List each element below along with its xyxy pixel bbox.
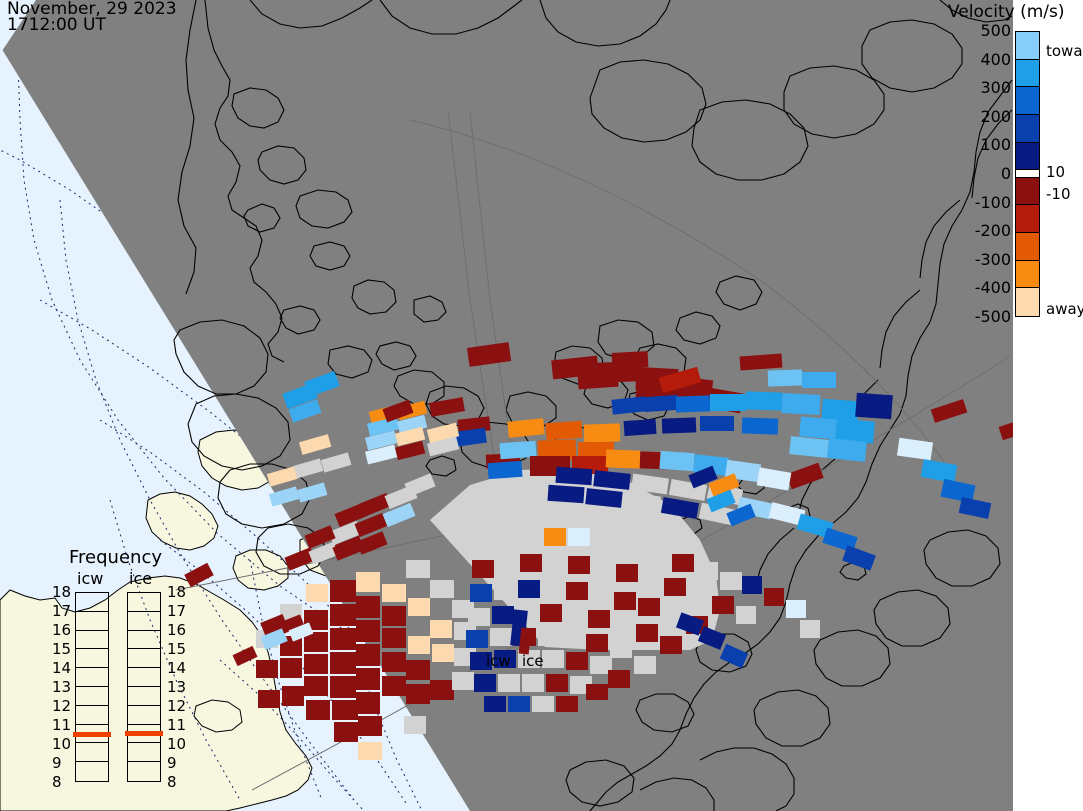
freq-segment (128, 706, 160, 725)
colorbar-tick-500: 500 (951, 21, 1011, 40)
colorbar-swatch-1 (1016, 60, 1039, 88)
colorbar-tick--500: -500 (951, 307, 1011, 326)
freq-segment (128, 631, 160, 650)
colorbar-swatch-8 (1016, 233, 1039, 261)
colorbar-tick--200: -200 (951, 221, 1011, 240)
colorbar-tick--300: -300 (951, 250, 1011, 269)
freq-tick-12: 12 (167, 697, 186, 715)
freq-marker-ice (125, 731, 163, 736)
time-text: 1712:00 UT (7, 17, 177, 33)
freq-scale-ice (127, 592, 161, 782)
colorbar-toward-label: toward (1046, 42, 1083, 60)
colorbar-swatch-9 (1016, 261, 1039, 289)
freq-segment (76, 668, 108, 687)
frequency-legend: Frequency icw ice 18171615141312111098 1… (55, 545, 195, 790)
frequency-legend-title: Frequency (69, 547, 162, 568)
freq-segment (128, 687, 160, 706)
freq-tick-9: 9 (167, 754, 177, 772)
freq-scale-icw (75, 592, 109, 782)
colorbar-swatch-7 (1016, 205, 1039, 233)
colorbar-swatch-3 (1016, 115, 1039, 143)
colorbar-tick--400: -400 (951, 278, 1011, 297)
freq-tick-15: 15 (52, 640, 71, 658)
freq-tick-17: 17 (52, 602, 71, 620)
colorbar-swatch-4 (1016, 143, 1039, 171)
freq-tick-12: 12 (52, 697, 71, 715)
freq-segment (128, 593, 160, 612)
colorbar-tick-200: 200 (951, 107, 1011, 126)
colorbar-tick-400: 400 (951, 50, 1011, 69)
freq-tick-11: 11 (167, 716, 186, 734)
freq-tick-13: 13 (167, 678, 186, 696)
freq-segment (128, 612, 160, 631)
freq-segment (76, 612, 108, 631)
freq-tick-8: 8 (167, 773, 177, 791)
colorbar-positive-threshold-label: 10 (1046, 163, 1065, 181)
freq-tick-11: 11 (52, 716, 71, 734)
freq-segment (76, 687, 108, 706)
freq-segment (128, 743, 160, 762)
colorbar-tick-100: 100 (951, 135, 1011, 154)
freq-tick-15: 15 (167, 640, 186, 658)
freq-tick-9: 9 (52, 754, 62, 772)
velocity-colorbar (1015, 31, 1040, 317)
radar-fan-plot: November, 29 2023 1712:00 UT icw ice Fre… (0, 0, 1083, 811)
colorbar-swatch-0 (1016, 32, 1039, 60)
colorbar-away-label: away (1046, 300, 1083, 318)
colorbar-tick--100: -100 (951, 193, 1011, 212)
fan-label-icw: icw (486, 652, 511, 670)
colorbar-swatch-5 (1016, 170, 1039, 177)
freq-segment (76, 762, 108, 781)
timestamp-header: November, 29 2023 1712:00 UT (7, 1, 177, 33)
freq-marker-icw (73, 732, 111, 737)
freq-tick-13: 13 (52, 678, 71, 696)
colorbar-negative-threshold-label: -10 (1046, 185, 1071, 203)
colorbar-swatch-6 (1016, 178, 1039, 206)
freq-segment (76, 743, 108, 762)
colorbar-swatch-10 (1016, 288, 1039, 316)
colorbar-title: Velocity (m/s) (948, 2, 1065, 22)
colorbar-tick-300: 300 (951, 78, 1011, 97)
freq-tick-16: 16 (167, 621, 186, 639)
colorbar-swatch-2 (1016, 87, 1039, 115)
freq-segment (128, 668, 160, 687)
freq-column-label-icw: icw (77, 569, 103, 588)
freq-tick-10: 10 (167, 735, 186, 753)
freq-segment (76, 649, 108, 668)
freq-tick-8: 8 (52, 773, 62, 791)
colorbar-tick-0: 0 (951, 164, 1011, 183)
freq-tick-18: 18 (167, 583, 186, 601)
freq-tick-10: 10 (52, 735, 71, 753)
freq-tick-14: 14 (167, 659, 186, 677)
freq-tick-14: 14 (52, 659, 71, 677)
freq-column-label-ice: ice (129, 569, 152, 588)
freq-segment (128, 649, 160, 668)
freq-tick-18: 18 (52, 583, 71, 601)
freq-segment (128, 762, 160, 781)
freq-segment (76, 593, 108, 612)
freq-segment (76, 631, 108, 650)
freq-tick-17: 17 (167, 602, 186, 620)
freq-segment (76, 706, 108, 725)
fan-label-ice: ice (522, 652, 544, 670)
freq-tick-16: 16 (52, 621, 71, 639)
